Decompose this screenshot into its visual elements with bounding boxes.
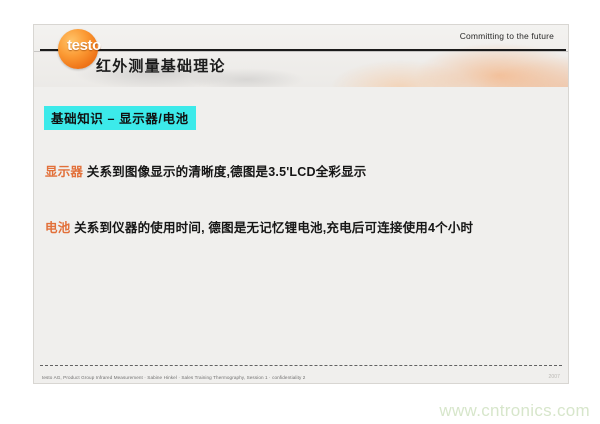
footer-page-number: 2007 — [548, 374, 560, 380]
paragraph-2-accent: 电池 — [45, 221, 70, 235]
paragraph-1-accent: 显示器 — [45, 165, 83, 179]
paragraph-2-body: 关系到仪器的使用时间, 德图是无记忆锂电池,充电后可连接使用4个小时 — [70, 221, 473, 235]
footer-divider — [40, 365, 562, 366]
content-paragraph-2: 电池 关系到仪器的使用时间, 德图是无记忆锂电池,充电后可连接使用4个小时 — [45, 217, 473, 236]
slide-title: 红外测量基础理论 — [96, 55, 226, 76]
slide-subtitle: 基础知识 – 显示器/电池 — [44, 106, 196, 130]
slide-body: 基础知识 – 显示器/电池 显示器 关系到图像显示的清晰度,德图是3.5'LCD… — [34, 87, 568, 383]
header-rule-secondary — [34, 51, 568, 52]
site-watermark: www.cntronics.com — [439, 401, 590, 421]
slide-header: testo Committing to the future 红外测量基础理论 — [34, 25, 568, 87]
subtitle-container: 基础知识 – 显示器/电池 — [44, 106, 196, 130]
paragraph-1-body: 关系到图像显示的清晰度,德图是3.5'LCD全彩显示 — [83, 165, 366, 179]
logo-wordmark: testo — [58, 37, 110, 54]
footer-text: testo AG, Product Group Infrared Measure… — [42, 375, 305, 380]
presentation-slide: testo Committing to the future 红外测量基础理论 … — [33, 24, 569, 384]
page-canvas: testo Committing to the future 红外测量基础理论 … — [0, 0, 600, 424]
content-paragraph-1: 显示器 关系到图像显示的清晰度,德图是3.5'LCD全彩显示 — [45, 161, 367, 180]
brand-tagline: Committing to the future — [460, 31, 554, 41]
